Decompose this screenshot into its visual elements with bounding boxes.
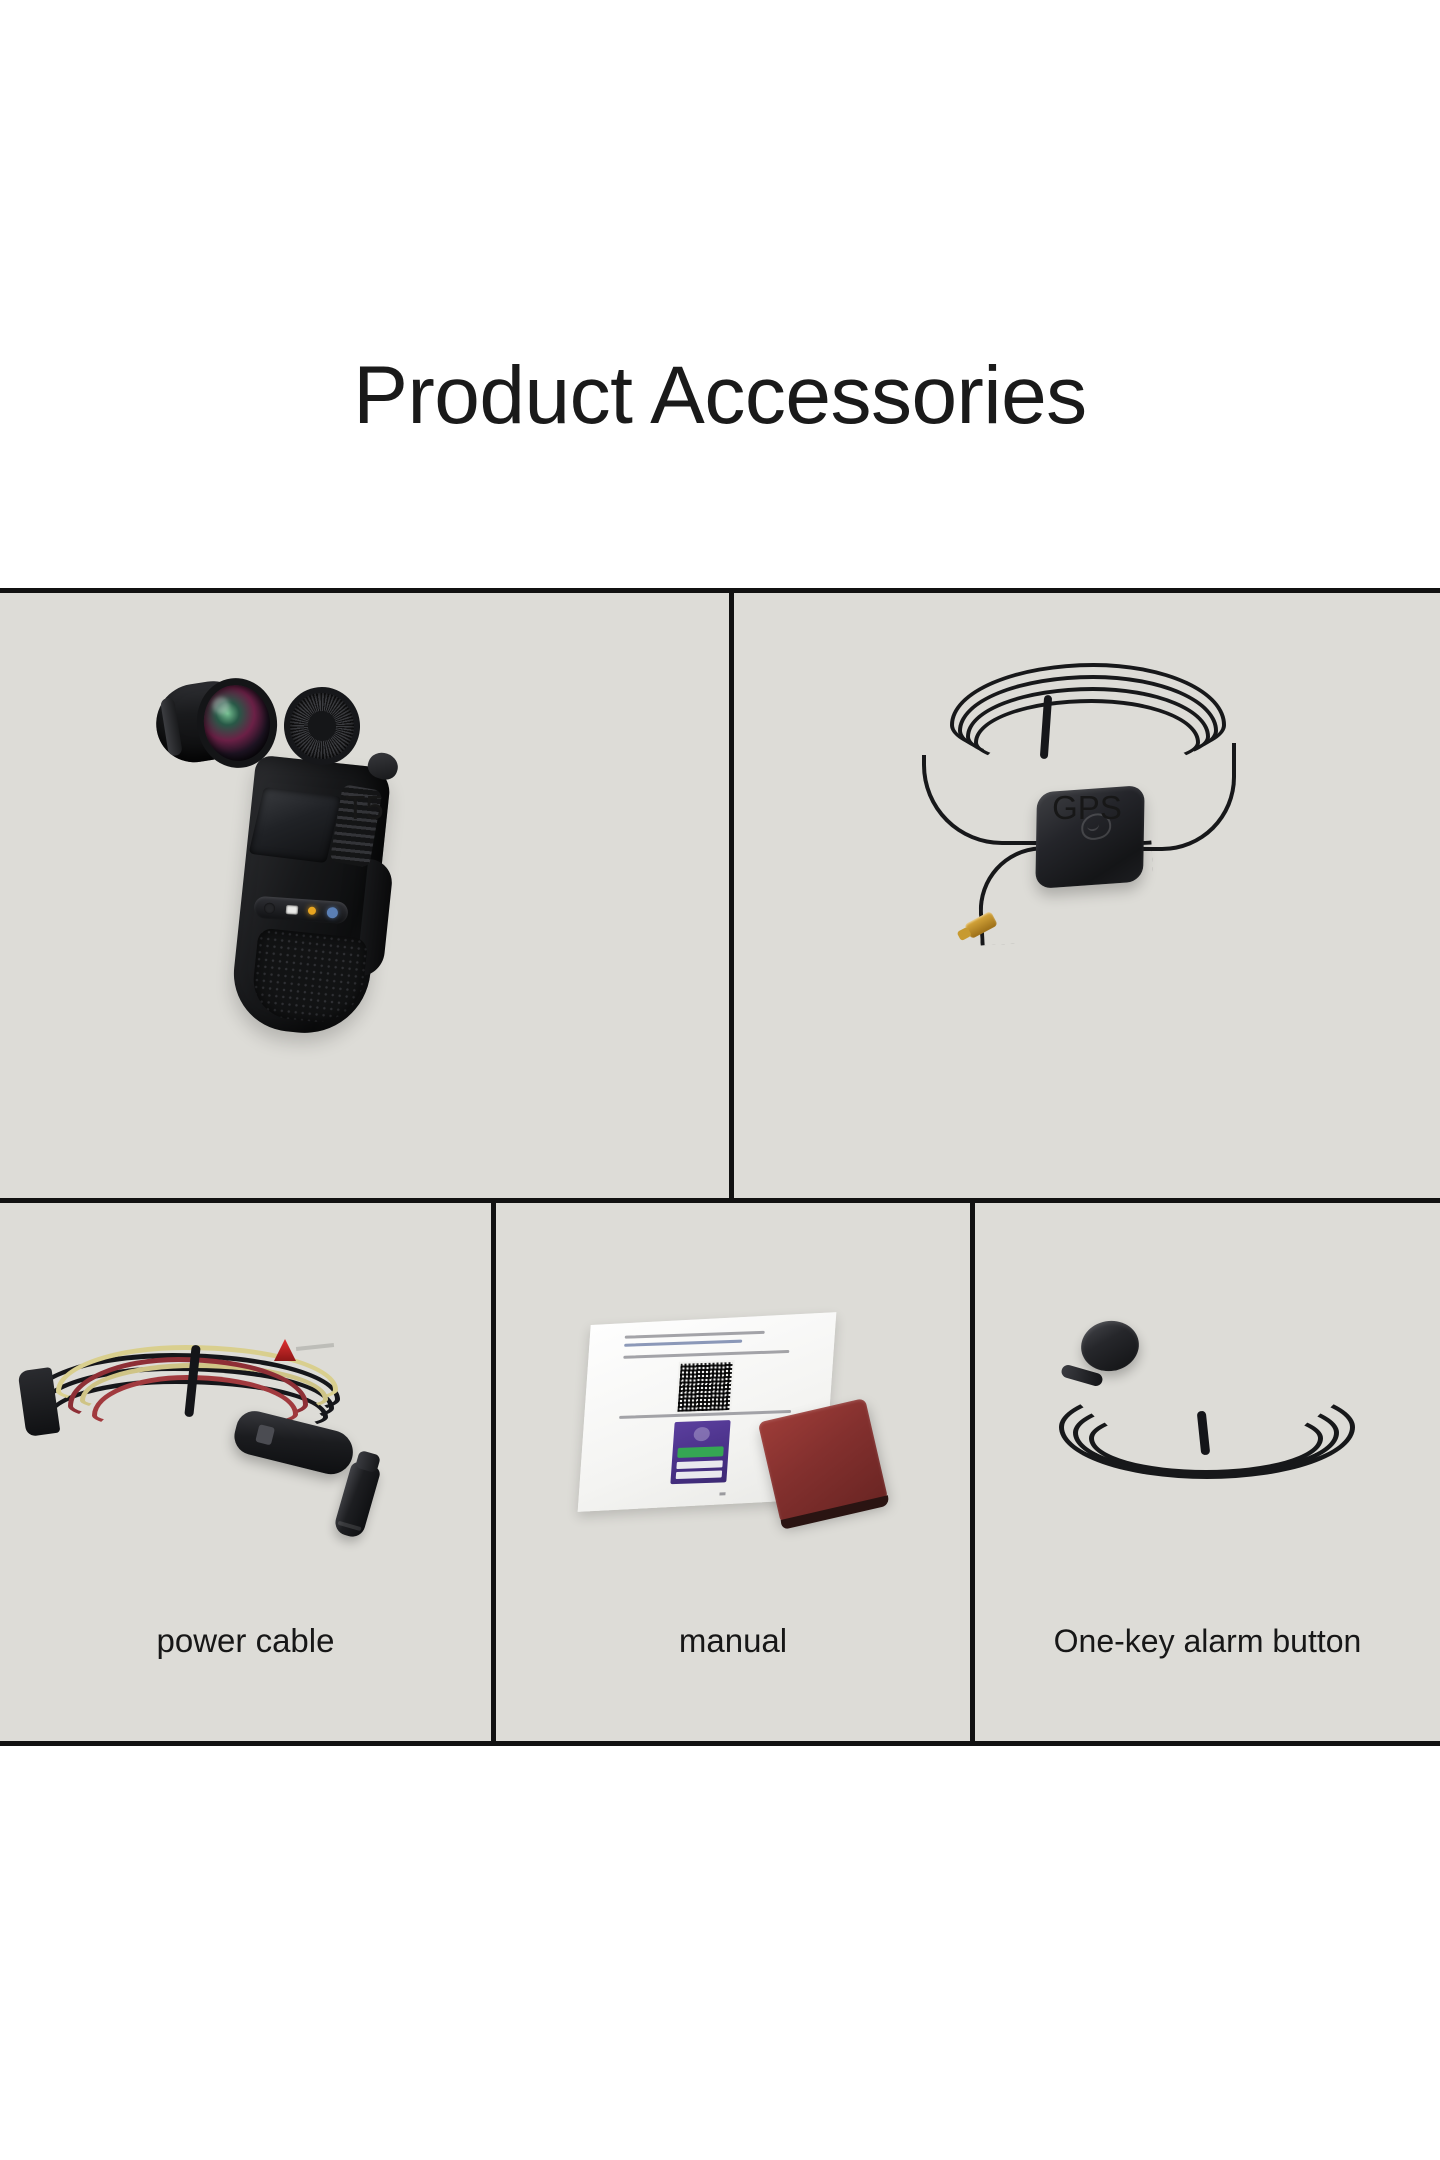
page-title: Product Accessories [0, 348, 1440, 444]
blue-led-icon [326, 906, 338, 918]
accessory-cell-power-cable[interactable]: power cable [0, 1203, 491, 1746]
app-logo-icon [693, 1427, 710, 1442]
input-field-graphic [676, 1470, 722, 1479]
download-button-graphic [677, 1446, 724, 1458]
amber-led-icon [308, 907, 317, 916]
qr-code-icon [675, 1360, 735, 1414]
accessories-row-bottom: power cable [0, 1203, 1440, 1746]
accessory-cell-alarm-button[interactable]: One-key alarm button [970, 1203, 1440, 1746]
alarm-button-image [975, 1203, 1440, 1746]
accessory-cell-t5[interactable]: T5 [0, 593, 729, 1198]
bare-lead [296, 1343, 334, 1351]
accessory-cell-gps[interactable]: GPS [729, 593, 1440, 1198]
accessory-label-alarm-button: One-key alarm button [975, 1621, 1440, 1661]
accessory-label-power-cable: power cable [0, 1621, 491, 1661]
text-line [625, 1331, 765, 1339]
round-button-icon [1077, 1316, 1143, 1375]
input-field-graphic [676, 1460, 722, 1469]
page-number-mark [719, 1492, 725, 1495]
camera-icon [285, 904, 298, 914]
power-wire-harness-icon [22, 1297, 452, 1547]
accessories-row-top: T5 [0, 593, 1440, 1198]
dashcam-device-icon [150, 665, 470, 1065]
t5-image [0, 593, 729, 1198]
speaker-grille-icon [287, 690, 358, 762]
text-line [624, 1340, 742, 1347]
accessory-cell-manual[interactable]: manual [491, 1203, 970, 1746]
purple-app-screen-icon [670, 1420, 730, 1484]
accessories-grid: T5 [0, 588, 1440, 1746]
accessory-label-t5: T5 [0, 788, 729, 828]
gps-image [734, 593, 1440, 1198]
accessory-label-manual: manual [496, 1621, 970, 1661]
alarm-button-puck-icon [1049, 1321, 1389, 1541]
manual-image [496, 1203, 970, 1746]
red-crimp-terminal-icon [274, 1339, 296, 1361]
power-led-icon [264, 902, 276, 914]
accessory-label-gps: GPS [734, 788, 1440, 828]
product-accessories-page: Product Accessories [0, 0, 1440, 2160]
instruction-booklet-icon [584, 1303, 904, 1543]
power-cable-image [0, 1203, 491, 1746]
text-line [623, 1350, 789, 1359]
